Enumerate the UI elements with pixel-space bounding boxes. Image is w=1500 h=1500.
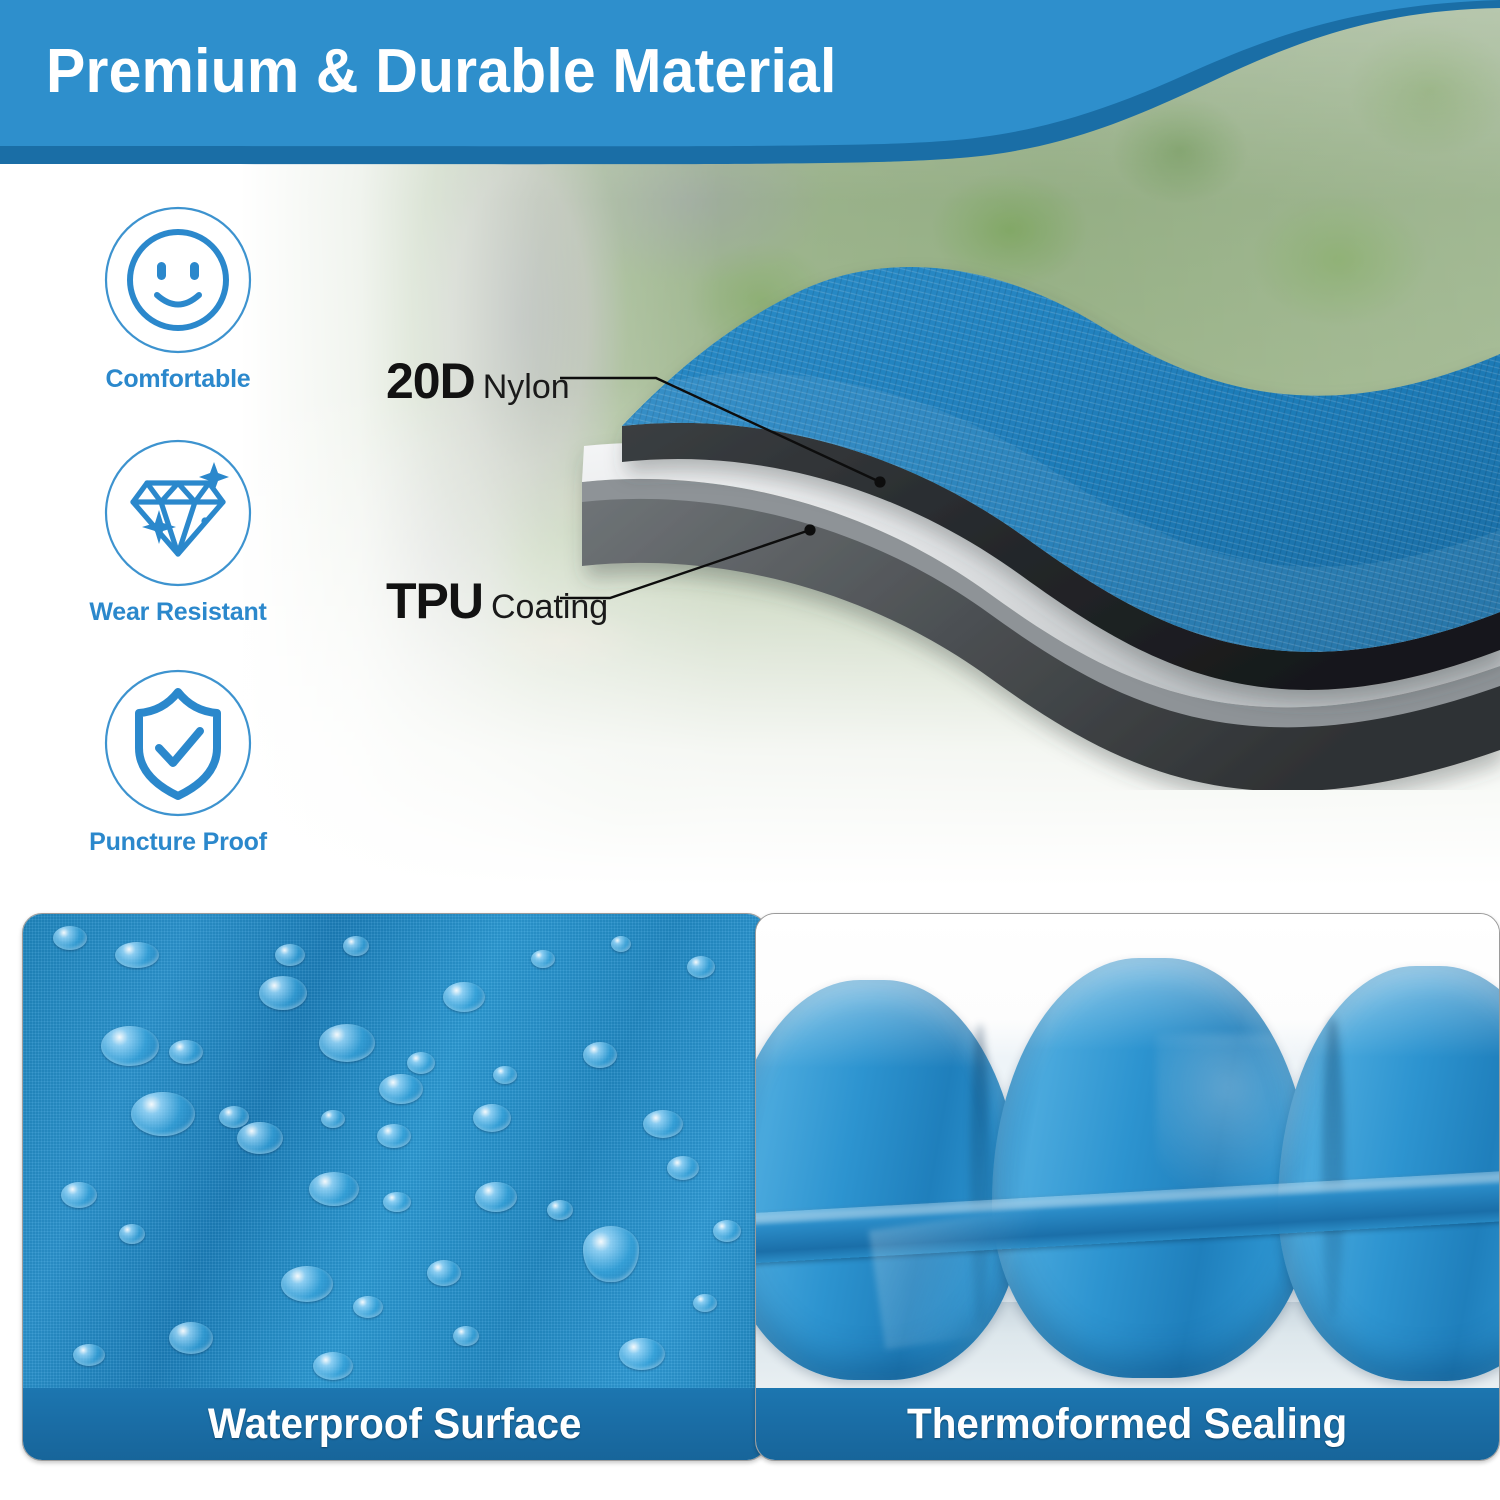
water-droplet [169, 1322, 213, 1354]
water-droplet [101, 1026, 159, 1066]
diamond-sparkle-icon [103, 438, 253, 588]
water-droplet [61, 1182, 97, 1208]
smiley-face-icon [103, 205, 253, 355]
ripstop-fabric-texture [23, 914, 766, 1394]
feature-label: Comfortable [28, 365, 328, 394]
water-droplet [407, 1052, 435, 1074]
water-droplet [687, 956, 715, 978]
tpu-callout: TPUCoating [386, 572, 608, 630]
water-droplet [473, 1104, 511, 1132]
tpu-callout-big: TPU [386, 573, 483, 629]
water-droplet [643, 1110, 683, 1138]
panel-caption-bar: Waterproof Surface [23, 1388, 766, 1460]
nylon-leader-dot [874, 476, 885, 487]
thermoformed-sealing-photo [756, 914, 1499, 1394]
water-droplet [309, 1172, 359, 1206]
water-droplet [443, 982, 485, 1012]
water-droplet [343, 936, 369, 956]
feature-label: Wear Resistant [28, 598, 328, 627]
shield-check-icon [103, 668, 253, 818]
water-droplet [475, 1182, 517, 1212]
water-droplet [313, 1352, 353, 1380]
feature-item-wear-resistant: Wear Resistant [28, 438, 328, 627]
fabric-fold [1156, 1034, 1336, 1214]
water-droplet [237, 1122, 283, 1154]
tpu-leader-dot [804, 524, 815, 535]
feature-item-comfortable: Comfortable [28, 205, 328, 394]
nylon-callout: 20DNylon [386, 352, 570, 410]
page-title: Premium & Durable Material [46, 36, 837, 107]
water-droplet [379, 1074, 423, 1104]
water-droplet [453, 1326, 479, 1346]
infographic-root: Premium & Durable Material Comfortable [0, 0, 1500, 1500]
water-droplet [667, 1156, 699, 1180]
water-droplet [115, 942, 159, 968]
water-droplet [583, 1042, 617, 1068]
nylon-callout-small: Nylon [483, 368, 570, 406]
water-droplet [619, 1338, 665, 1370]
water-droplet [53, 926, 87, 950]
water-droplet [169, 1040, 203, 1064]
water-droplet [275, 944, 305, 966]
water-droplet [377, 1124, 411, 1148]
water-droplet [353, 1296, 383, 1318]
water-droplet [493, 1066, 517, 1084]
water-droplet [319, 1024, 375, 1062]
feature-label: Puncture Proof [28, 828, 328, 857]
water-droplet [427, 1260, 461, 1286]
nylon-callout-big: 20D [386, 353, 475, 409]
water-droplet [321, 1110, 345, 1128]
water-droplet [383, 1192, 411, 1212]
panel-caption-bar: Thermoformed Sealing [756, 1388, 1499, 1460]
material-layer-diagram [560, 230, 1500, 790]
panel-caption-text: Thermoformed Sealing [907, 1400, 1347, 1449]
panel-waterproof-surface: Waterproof Surface [22, 913, 767, 1461]
feature-item-puncture-proof: Puncture Proof [28, 668, 328, 857]
water-droplet [73, 1344, 105, 1366]
tpu-callout-small: Coating [491, 588, 608, 626]
header-banner: Premium & Durable Material [0, 0, 1500, 190]
water-droplet [547, 1200, 573, 1220]
water-droplet [693, 1294, 717, 1312]
water-droplet [131, 1092, 195, 1136]
water-droplet [531, 950, 555, 968]
water-droplet [119, 1224, 145, 1244]
water-droplet [713, 1220, 741, 1242]
waterproof-fabric-photo [23, 914, 766, 1394]
water-droplet [259, 976, 307, 1010]
panel-caption-text: Waterproof Surface [208, 1400, 582, 1449]
water-droplet [281, 1266, 333, 1302]
panel-thermoformed-sealing: Thermoformed Sealing [755, 913, 1500, 1461]
water-droplet [611, 936, 631, 952]
